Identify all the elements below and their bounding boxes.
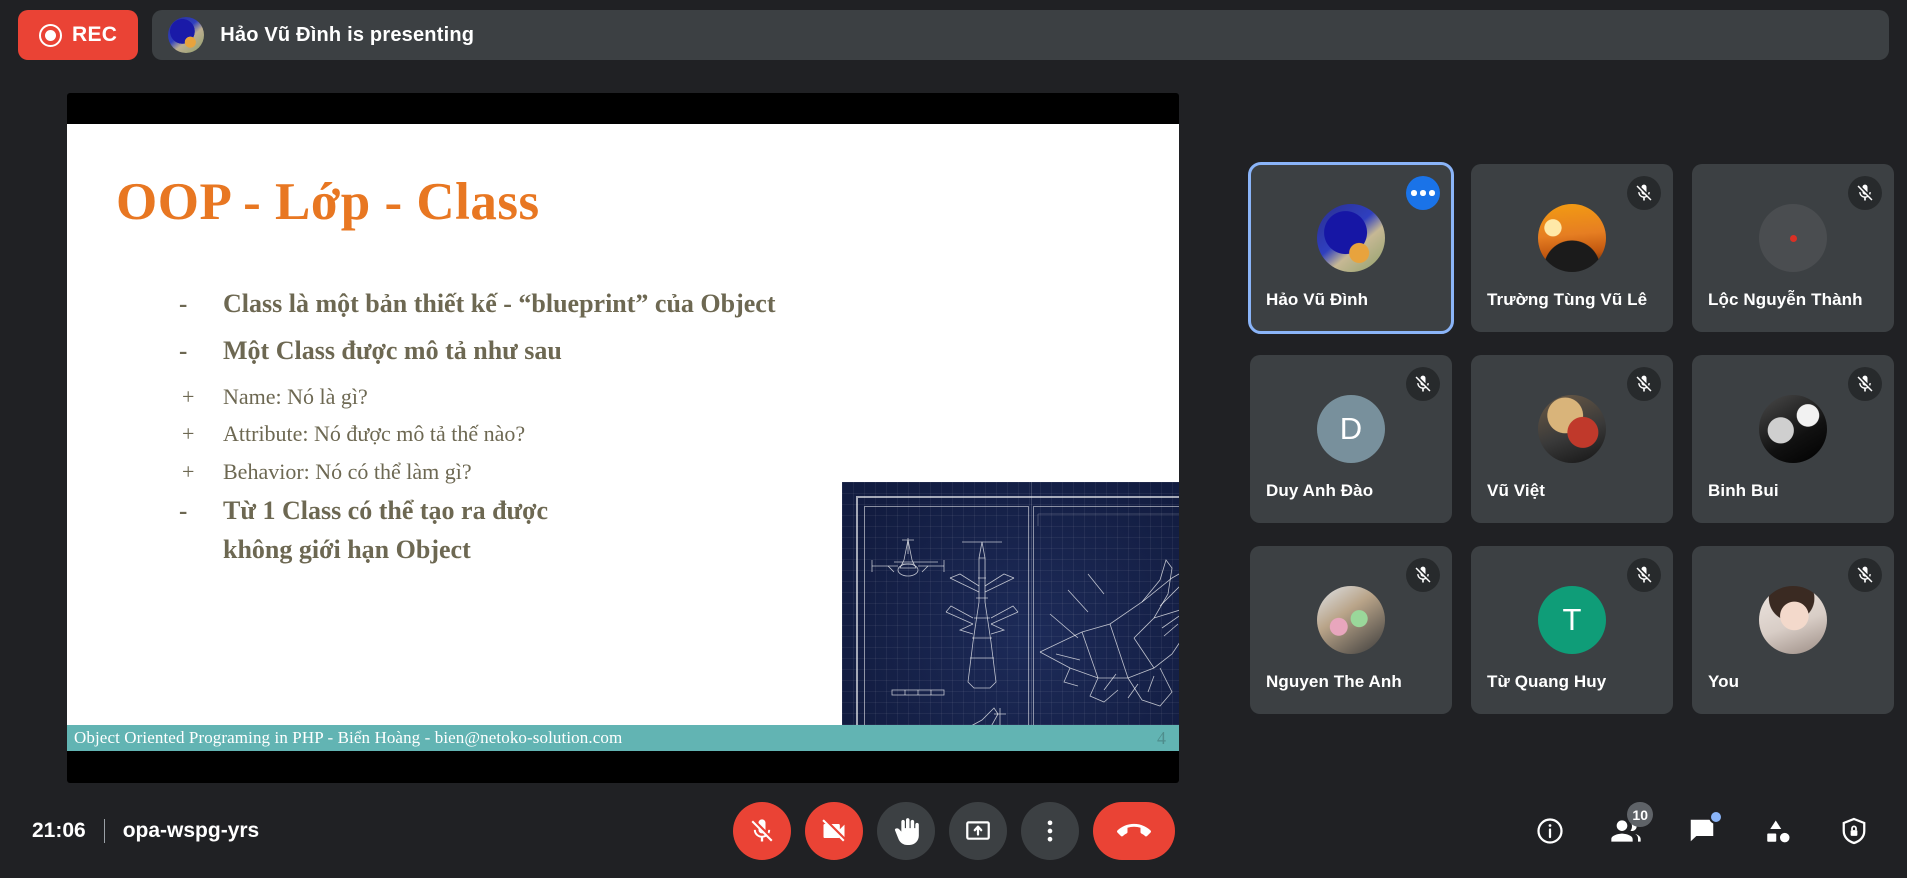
participant-tile-truong-tung-vu-le[interactable]: Trường Tùng Vũ Lê [1471, 164, 1673, 332]
presenting-label: Hảo Vũ Đình is presenting [220, 24, 474, 47]
rec-label: REC [72, 23, 117, 47]
participant-tile-tu-quang-huy[interactable]: T Từ Quang Huy [1471, 546, 1673, 714]
presenter-avatar [168, 17, 204, 53]
bullet-item: - Từ 1 Class có thể tạo ra được [179, 491, 939, 531]
avatar [1759, 586, 1827, 654]
more-options-icon[interactable] [1406, 176, 1440, 210]
avatar [1317, 204, 1385, 272]
bullet-item: + Name: Nó là gì? [179, 379, 939, 415]
presentation-stage[interactable]: OOP - Lớp - Class - Class là một bản thi… [67, 93, 1179, 783]
leave-call-button[interactable] [1093, 802, 1175, 860]
bullet-text: Attribute: Nó được mô tả thế nào? [223, 416, 525, 452]
participant-name: Hảo Vũ Đình [1266, 290, 1368, 310]
bullet-marker: - [179, 291, 223, 319]
bullet-item: - Class là một bản thiết kế - “blueprint… [179, 284, 939, 324]
participant-name: You [1708, 672, 1739, 692]
mic-muted-icon [1406, 558, 1440, 592]
bullet-text: Behavior: Nó có thể làm gì? [223, 454, 472, 490]
presenting-banner[interactable]: Hảo Vũ Đình is presenting [152, 10, 1889, 60]
host-controls-icon[interactable] [1831, 808, 1877, 854]
meeting-details-icon[interactable] [1527, 808, 1573, 854]
slide-footer-text: Object Oriented Programing in PHP - Biển… [74, 728, 622, 748]
avatar [1759, 204, 1827, 272]
bullet-marker: - [179, 338, 223, 366]
bullet-marker: + [179, 421, 223, 447]
bullet-item: + Behavior: Nó có thể làm gì? [179, 454, 939, 490]
recording-indicator[interactable]: REC [18, 10, 138, 60]
bullet-marker: + [179, 459, 223, 485]
slide-content: OOP - Lớp - Class - Class là một bản thi… [67, 124, 1179, 751]
blueprint-image: FUEL - 1071 GAL Internal ENG OIL - 3.1 G… [842, 482, 1179, 751]
meeting-info-left: 21:06 opa-wspg-yrs [32, 819, 259, 843]
mic-muted-icon [1627, 558, 1661, 592]
avatar [1317, 586, 1385, 654]
participant-name: Binh Bui [1708, 481, 1779, 501]
activities-icon[interactable] [1755, 808, 1801, 854]
participant-tile-binh-bui[interactable]: Binh Bui [1692, 355, 1894, 523]
participant-tile-duy-anh-dao[interactable]: D Duy Anh Đào [1250, 355, 1452, 523]
participant-tile-vu-viet[interactable]: Vũ Việt [1471, 355, 1673, 523]
participant-tile-nguyen-the-anh[interactable]: Nguyen The Anh [1250, 546, 1452, 714]
bullet-text: Class là một bản thiết kế - “blueprint” … [223, 284, 776, 324]
bullet-text: Một Class được mô tả như sau [223, 331, 562, 371]
mic-muted-icon [1627, 176, 1661, 210]
bullet-text: Name: Nó là gì? [223, 379, 368, 415]
bottom-bar: 21:06 opa-wspg-yrs [0, 784, 1907, 878]
participant-name: Nguyen The Anh [1266, 672, 1402, 692]
avatar: D [1317, 395, 1385, 463]
call-controls [733, 802, 1175, 860]
mic-muted-icon [1848, 367, 1882, 401]
participant-tile-you[interactable]: You [1692, 546, 1894, 714]
bullet-text: Từ 1 Class có thể tạo ra được [223, 491, 548, 531]
bullet-marker: + [179, 384, 223, 410]
avatar: T [1538, 586, 1606, 654]
slide-number: 4 [1157, 728, 1166, 749]
participant-tile-loc-nguyen-thanh[interactable]: Lộc Nguyễn Thành [1692, 164, 1894, 332]
clock-time: 21:06 [32, 819, 86, 843]
people-count-badge: 10 [1627, 802, 1653, 827]
slide-title: OOP - Lớp - Class [116, 172, 540, 232]
participant-name: Lộc Nguyễn Thành [1708, 290, 1863, 310]
slide-footer: Object Oriented Programing in PHP - Biển… [67, 725, 1179, 751]
participant-grid: Hảo Vũ Đình Trường Tùng Vũ Lê Lộc Nguyễn… [1250, 164, 1850, 714]
more-options-button[interactable] [1021, 802, 1079, 860]
bullet-text: không giới hạn Object [223, 535, 471, 565]
bullet-item: - Một Class được mô tả như sau [179, 331, 939, 371]
top-bar: REC Hảo Vũ Đình is presenting [0, 0, 1907, 70]
divider [104, 819, 105, 843]
participant-name: Từ Quang Huy [1487, 672, 1606, 692]
slide-bullet-list: - Class là một bản thiết kế - “blueprint… [179, 284, 939, 572]
participant-name: Duy Anh Đào [1266, 481, 1373, 501]
avatar [1538, 204, 1606, 272]
meeting-tools: 10 [1527, 808, 1877, 854]
mic-muted-icon [1406, 367, 1440, 401]
participant-name: Vũ Việt [1487, 481, 1545, 501]
camera-off-button[interactable] [805, 802, 863, 860]
avatar [1538, 395, 1606, 463]
bullet-marker: - [179, 498, 223, 526]
meeting-code: opa-wspg-yrs [123, 819, 260, 843]
microphone-off-button[interactable] [733, 802, 791, 860]
participant-tile-hao-vu-dinh[interactable]: Hảo Vũ Đình [1250, 164, 1452, 332]
chat-icon[interactable] [1679, 808, 1725, 854]
chat-unread-dot [1709, 810, 1723, 824]
blueprint-drawings-icon [842, 482, 1179, 751]
mic-muted-icon [1848, 176, 1882, 210]
bullet-item: + Attribute: Nó được mô tả thế nào? [179, 416, 939, 452]
google-meet-window: REC Hảo Vũ Đình is presenting OOP - Lớp … [0, 0, 1907, 878]
avatar [1759, 395, 1827, 463]
mic-muted-icon [1848, 558, 1882, 592]
raise-hand-button[interactable] [877, 802, 935, 860]
participant-name: Trường Tùng Vũ Lê [1487, 290, 1647, 310]
bullet-item: không giới hạn Object [179, 535, 939, 565]
mic-muted-icon [1627, 367, 1661, 401]
present-screen-button[interactable] [949, 802, 1007, 860]
people-icon[interactable]: 10 [1603, 808, 1649, 854]
record-dot-icon [39, 24, 62, 47]
